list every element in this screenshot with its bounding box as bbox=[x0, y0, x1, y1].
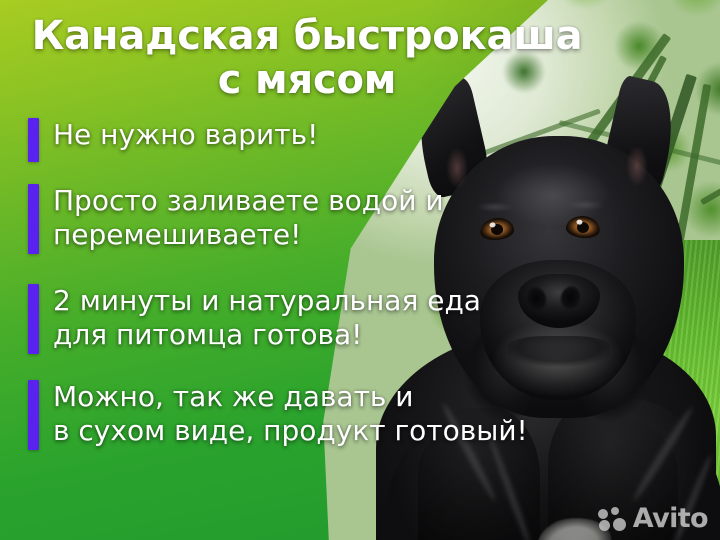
avito-dots-icon bbox=[598, 507, 628, 531]
list-item: Просто заливаете водой и перемешиваете! bbox=[28, 184, 608, 254]
page-title: Канадская быстрокаша с мясом bbox=[0, 14, 600, 102]
avito-wordmark: Avito bbox=[633, 505, 708, 532]
list-item-label: 2 минуты и натуральная еда для питомца г… bbox=[53, 284, 481, 352]
list-item-label: Можно, так же давать и в сухом виде, про… bbox=[53, 380, 528, 448]
benefits-list: Не нужно варить! Просто заливаете водой … bbox=[28, 118, 608, 474]
title-line-1: Канадская быстрокаша bbox=[0, 14, 600, 58]
avito-watermark: Avito bbox=[598, 505, 708, 532]
list-item: Можно, так же давать и в сухом виде, про… bbox=[28, 380, 608, 450]
bullet-marker-icon bbox=[28, 184, 39, 254]
list-item-label: Не нужно варить! bbox=[53, 118, 318, 152]
title-line-2: с мясом bbox=[0, 58, 600, 102]
bullet-marker-icon bbox=[28, 284, 39, 354]
bullet-marker-icon bbox=[28, 118, 39, 162]
list-item: 2 минуты и натуральная еда для питомца г… bbox=[28, 284, 608, 354]
promo-poster: Канадская быстрокаша с мясом Не нужно ва… bbox=[0, 0, 720, 540]
list-item-label: Просто заливаете водой и перемешиваете! bbox=[53, 184, 444, 252]
poster-content: Канадская быстрокаша с мясом Не нужно ва… bbox=[0, 0, 720, 540]
list-item: Не нужно варить! bbox=[28, 118, 608, 162]
bullet-marker-icon bbox=[28, 380, 39, 450]
